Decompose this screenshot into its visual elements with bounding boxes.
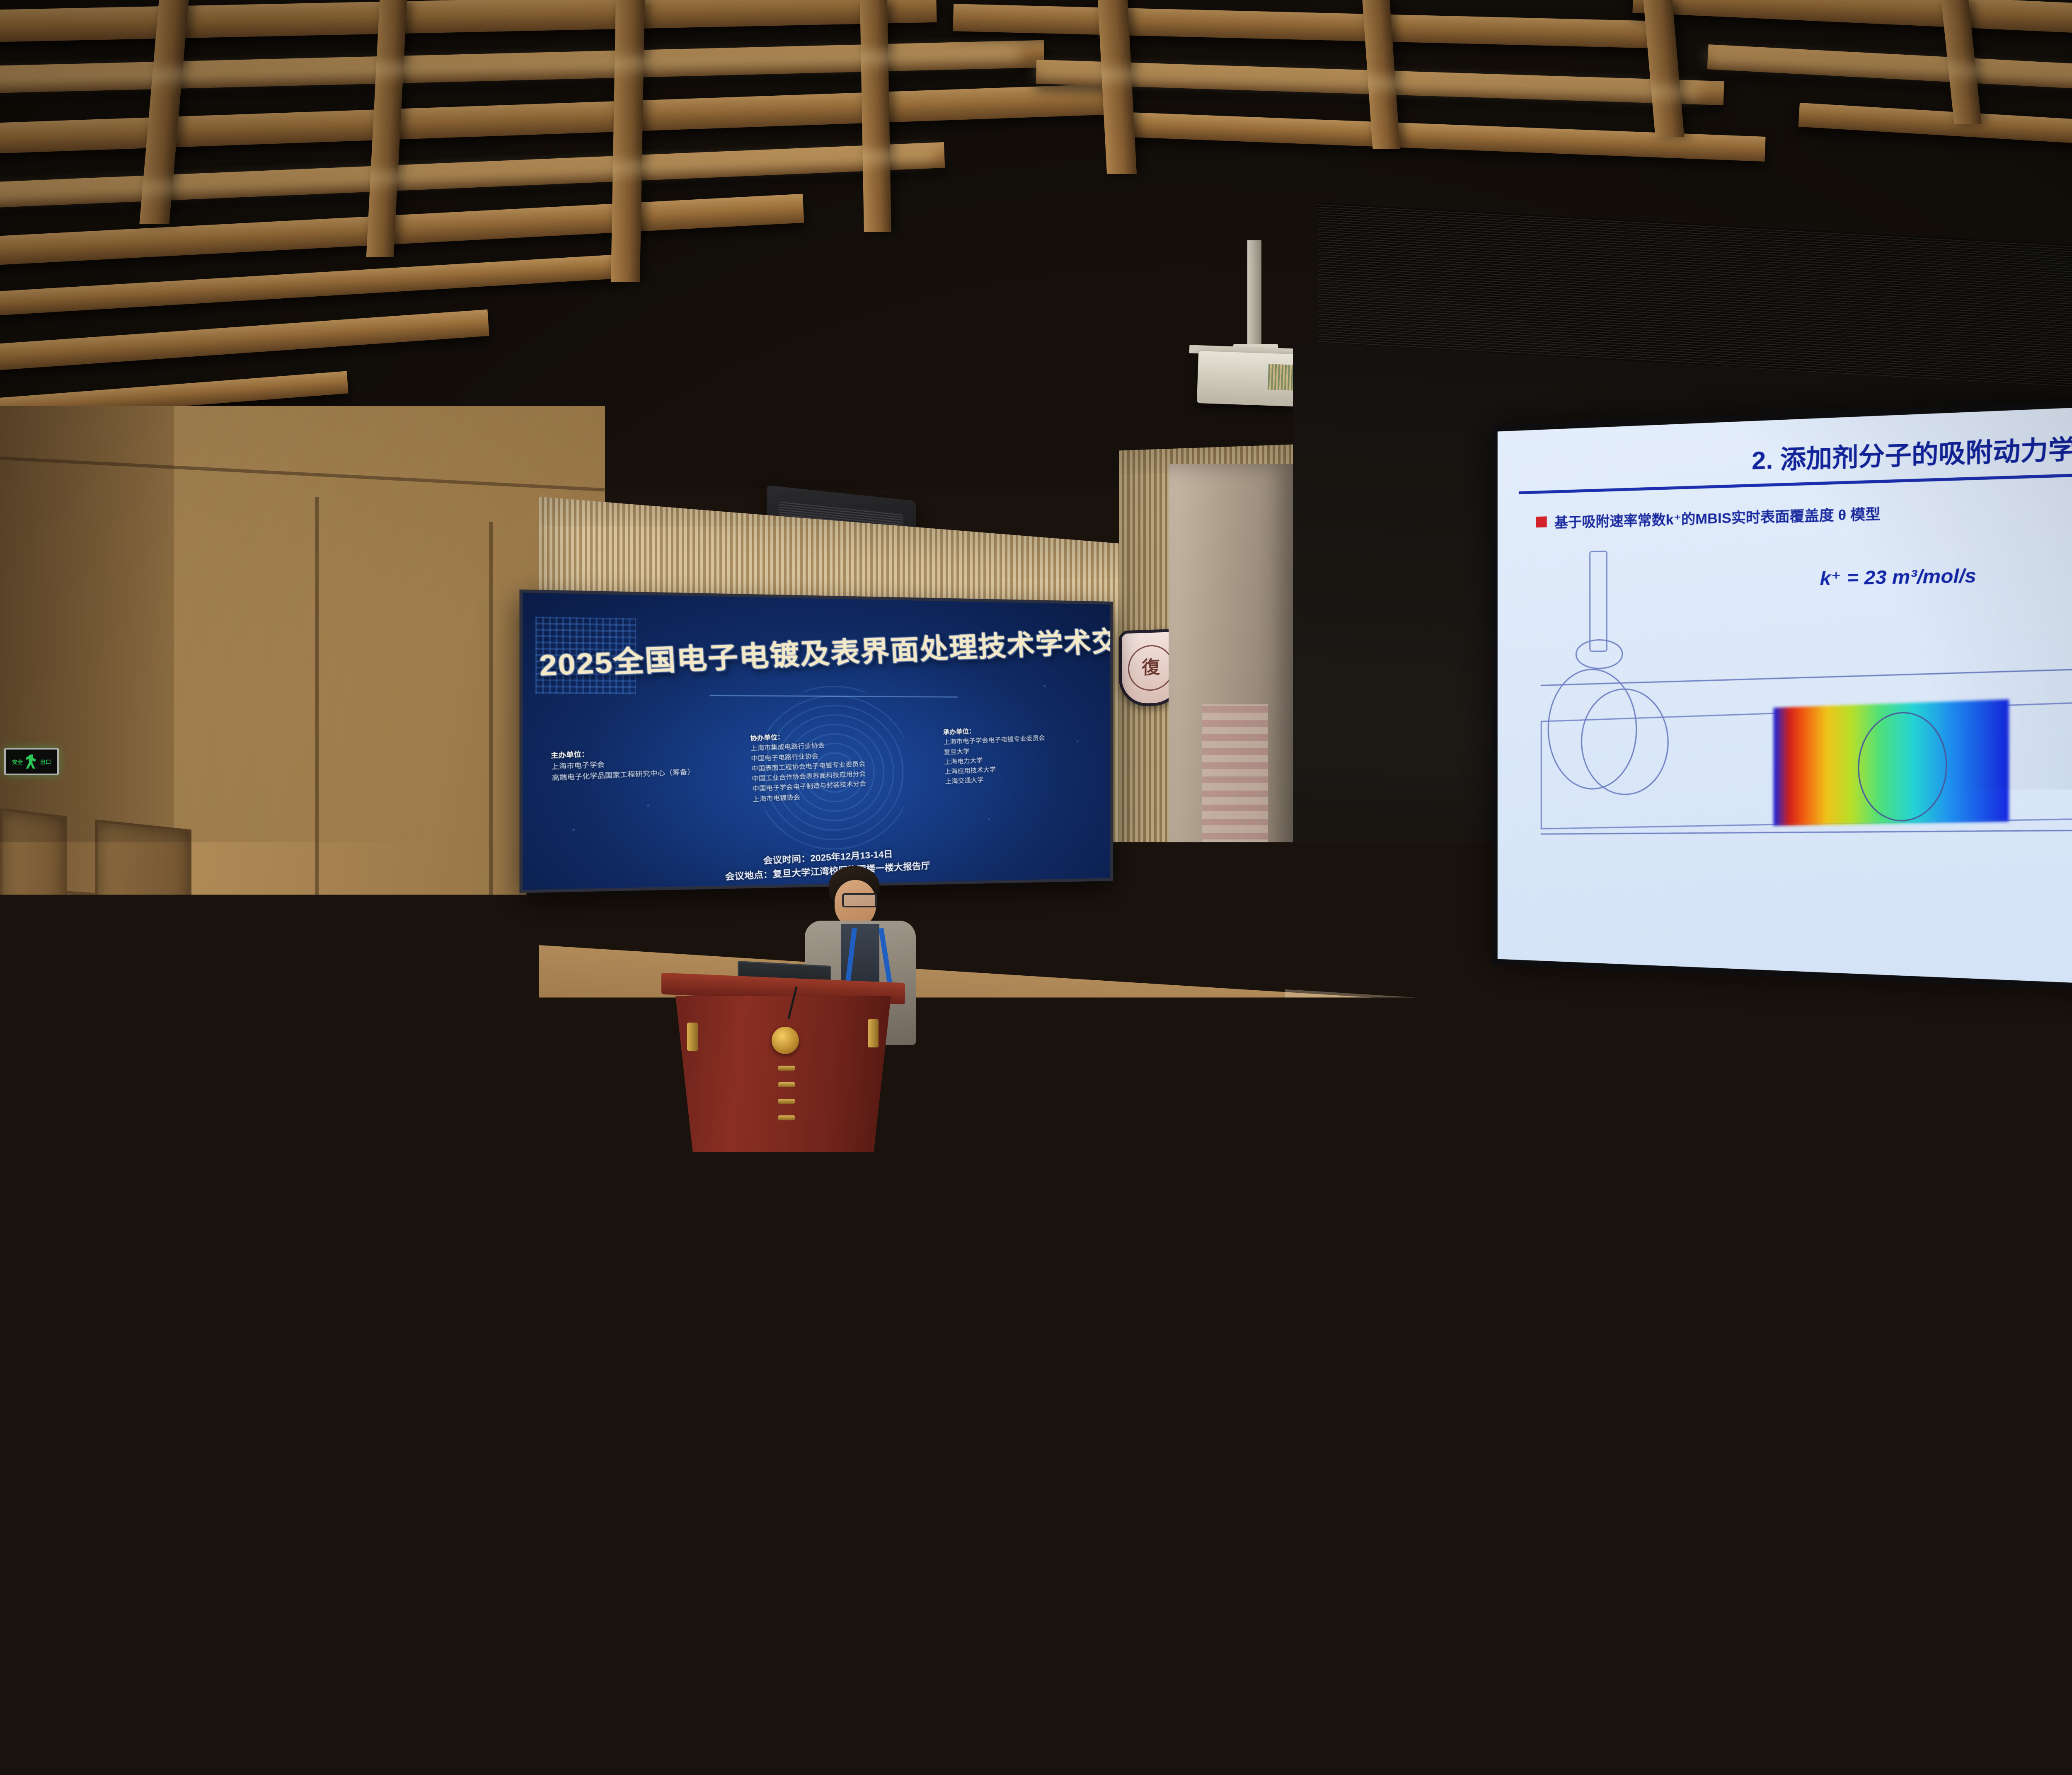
nameplate-sub: 1977届 校友 bbox=[403, 1589, 436, 1596]
attendee-tablet[interactable] bbox=[1775, 1360, 1884, 1450]
attendee-phone-left[interactable] bbox=[153, 1406, 215, 1498]
slide-bullet-text: 基于吸附速率常数k⁺的MBIS实时表面覆盖度 θ 模型 bbox=[1554, 502, 1881, 532]
drink-cup bbox=[1836, 1463, 1876, 1502]
attendee-phone[interactable] bbox=[385, 1377, 457, 1486]
nameplate-name: 蔡子勇 bbox=[714, 1670, 778, 1693]
speaker-glasses bbox=[842, 893, 877, 907]
running-man-icon bbox=[25, 754, 38, 769]
nameplate-name: 陈时勇 bbox=[97, 1637, 155, 1659]
hall-door-left[interactable] bbox=[0, 808, 67, 1053]
nameplate-sub: 1991届 校友 bbox=[568, 1286, 589, 1291]
backpack bbox=[1890, 1637, 2047, 1775]
inlet-port-assembly bbox=[1545, 549, 1686, 798]
nameplate-sub: 1985届 校友 bbox=[157, 1294, 178, 1299]
nameplate-name: 张正强 bbox=[801, 1288, 838, 1300]
seat-nameplate: 龚一凯 1991届 校友 bbox=[546, 1266, 610, 1300]
foreground-phone-camera[interactable] bbox=[932, 1349, 1014, 1480]
banner-time-label: 会议时间： bbox=[763, 854, 811, 866]
slide-title: 2. 添加剂分子的吸附动力学参数测定 bbox=[1540, 414, 2072, 483]
nameplate-name: 李世荣 bbox=[995, 1226, 1026, 1236]
projection-screen: 2. 添加剂分子的吸附动力学参数测定 基于吸附速率常数k⁺的MBIS实时表面覆盖… bbox=[1492, 384, 2072, 1007]
exit-text-left: 安全 bbox=[12, 758, 23, 766]
exit-text-right: 出口 bbox=[40, 758, 51, 766]
attendee-phone-main[interactable] bbox=[920, 1351, 924, 1355]
nameplate-sub: 1977届 校友 bbox=[729, 1690, 764, 1698]
seat-nameplate: 黄 鹏 1990届 校友 bbox=[530, 1188, 586, 1218]
slide-annotation: k⁺ = 23 m³/mol/s bbox=[1820, 565, 1976, 590]
banner-organiser-column: 承办单位： 上海市电子学会电子电镀专业委员会 复旦大学 上海电力大学 上海应用技… bbox=[943, 721, 1106, 787]
nameplate-name: 徐祖力 bbox=[388, 1569, 449, 1592]
conference-banner: 2025全国电子电镀及表界面处理技术学术交流会 主办单位： 上海市电子学会 高端… bbox=[519, 590, 1113, 893]
banner-coorg-column: 协办单位： 上海市集成电路行业协会 中国电子电路行业协会 中国表面工程协会电子电… bbox=[750, 726, 928, 804]
nameplate-sub: 1988届 校友 bbox=[810, 1299, 830, 1304]
seat-nameplate: 蔡子勇 1977届 校友 bbox=[687, 1654, 805, 1714]
presentation-slide: 2. 添加剂分子的吸附动力学参数测定 基于吸附速率常数k⁺的MBIS实时表面覆盖… bbox=[1498, 391, 2072, 1000]
seat-nameplate: 张正强 1988届 校友 bbox=[787, 1279, 853, 1313]
conference-hall-photo: 安全 出口 復 2025全国电子电镀及表界面处理技术学术交流会 主办单位： 上海… bbox=[0, 0, 2072, 1775]
emergency-exit-sign: 安全 出口 bbox=[4, 748, 59, 775]
seat-nameplate: 周鑫峰 1985届 校友 bbox=[136, 1274, 199, 1308]
nameplate-sub: 1983届 校友 bbox=[1001, 1235, 1019, 1239]
banner-time-value: 2025年12月13-14日 bbox=[810, 849, 893, 863]
nameplate-sub: 1990届 校友 bbox=[549, 1205, 567, 1209]
slide-bullet-row: 基于吸附速率常数k⁺的MBIS实时表面覆盖度 θ 模型 bbox=[1536, 486, 2072, 532]
banner-place-label: 会议地点： bbox=[725, 869, 773, 882]
pillar-stripe bbox=[1202, 704, 1268, 994]
seat-nameplate: 李世荣 1983届 校友 bbox=[982, 1217, 1039, 1248]
bullet-square-icon bbox=[1536, 516, 1547, 527]
channel-bottom-edge bbox=[1540, 827, 2072, 835]
